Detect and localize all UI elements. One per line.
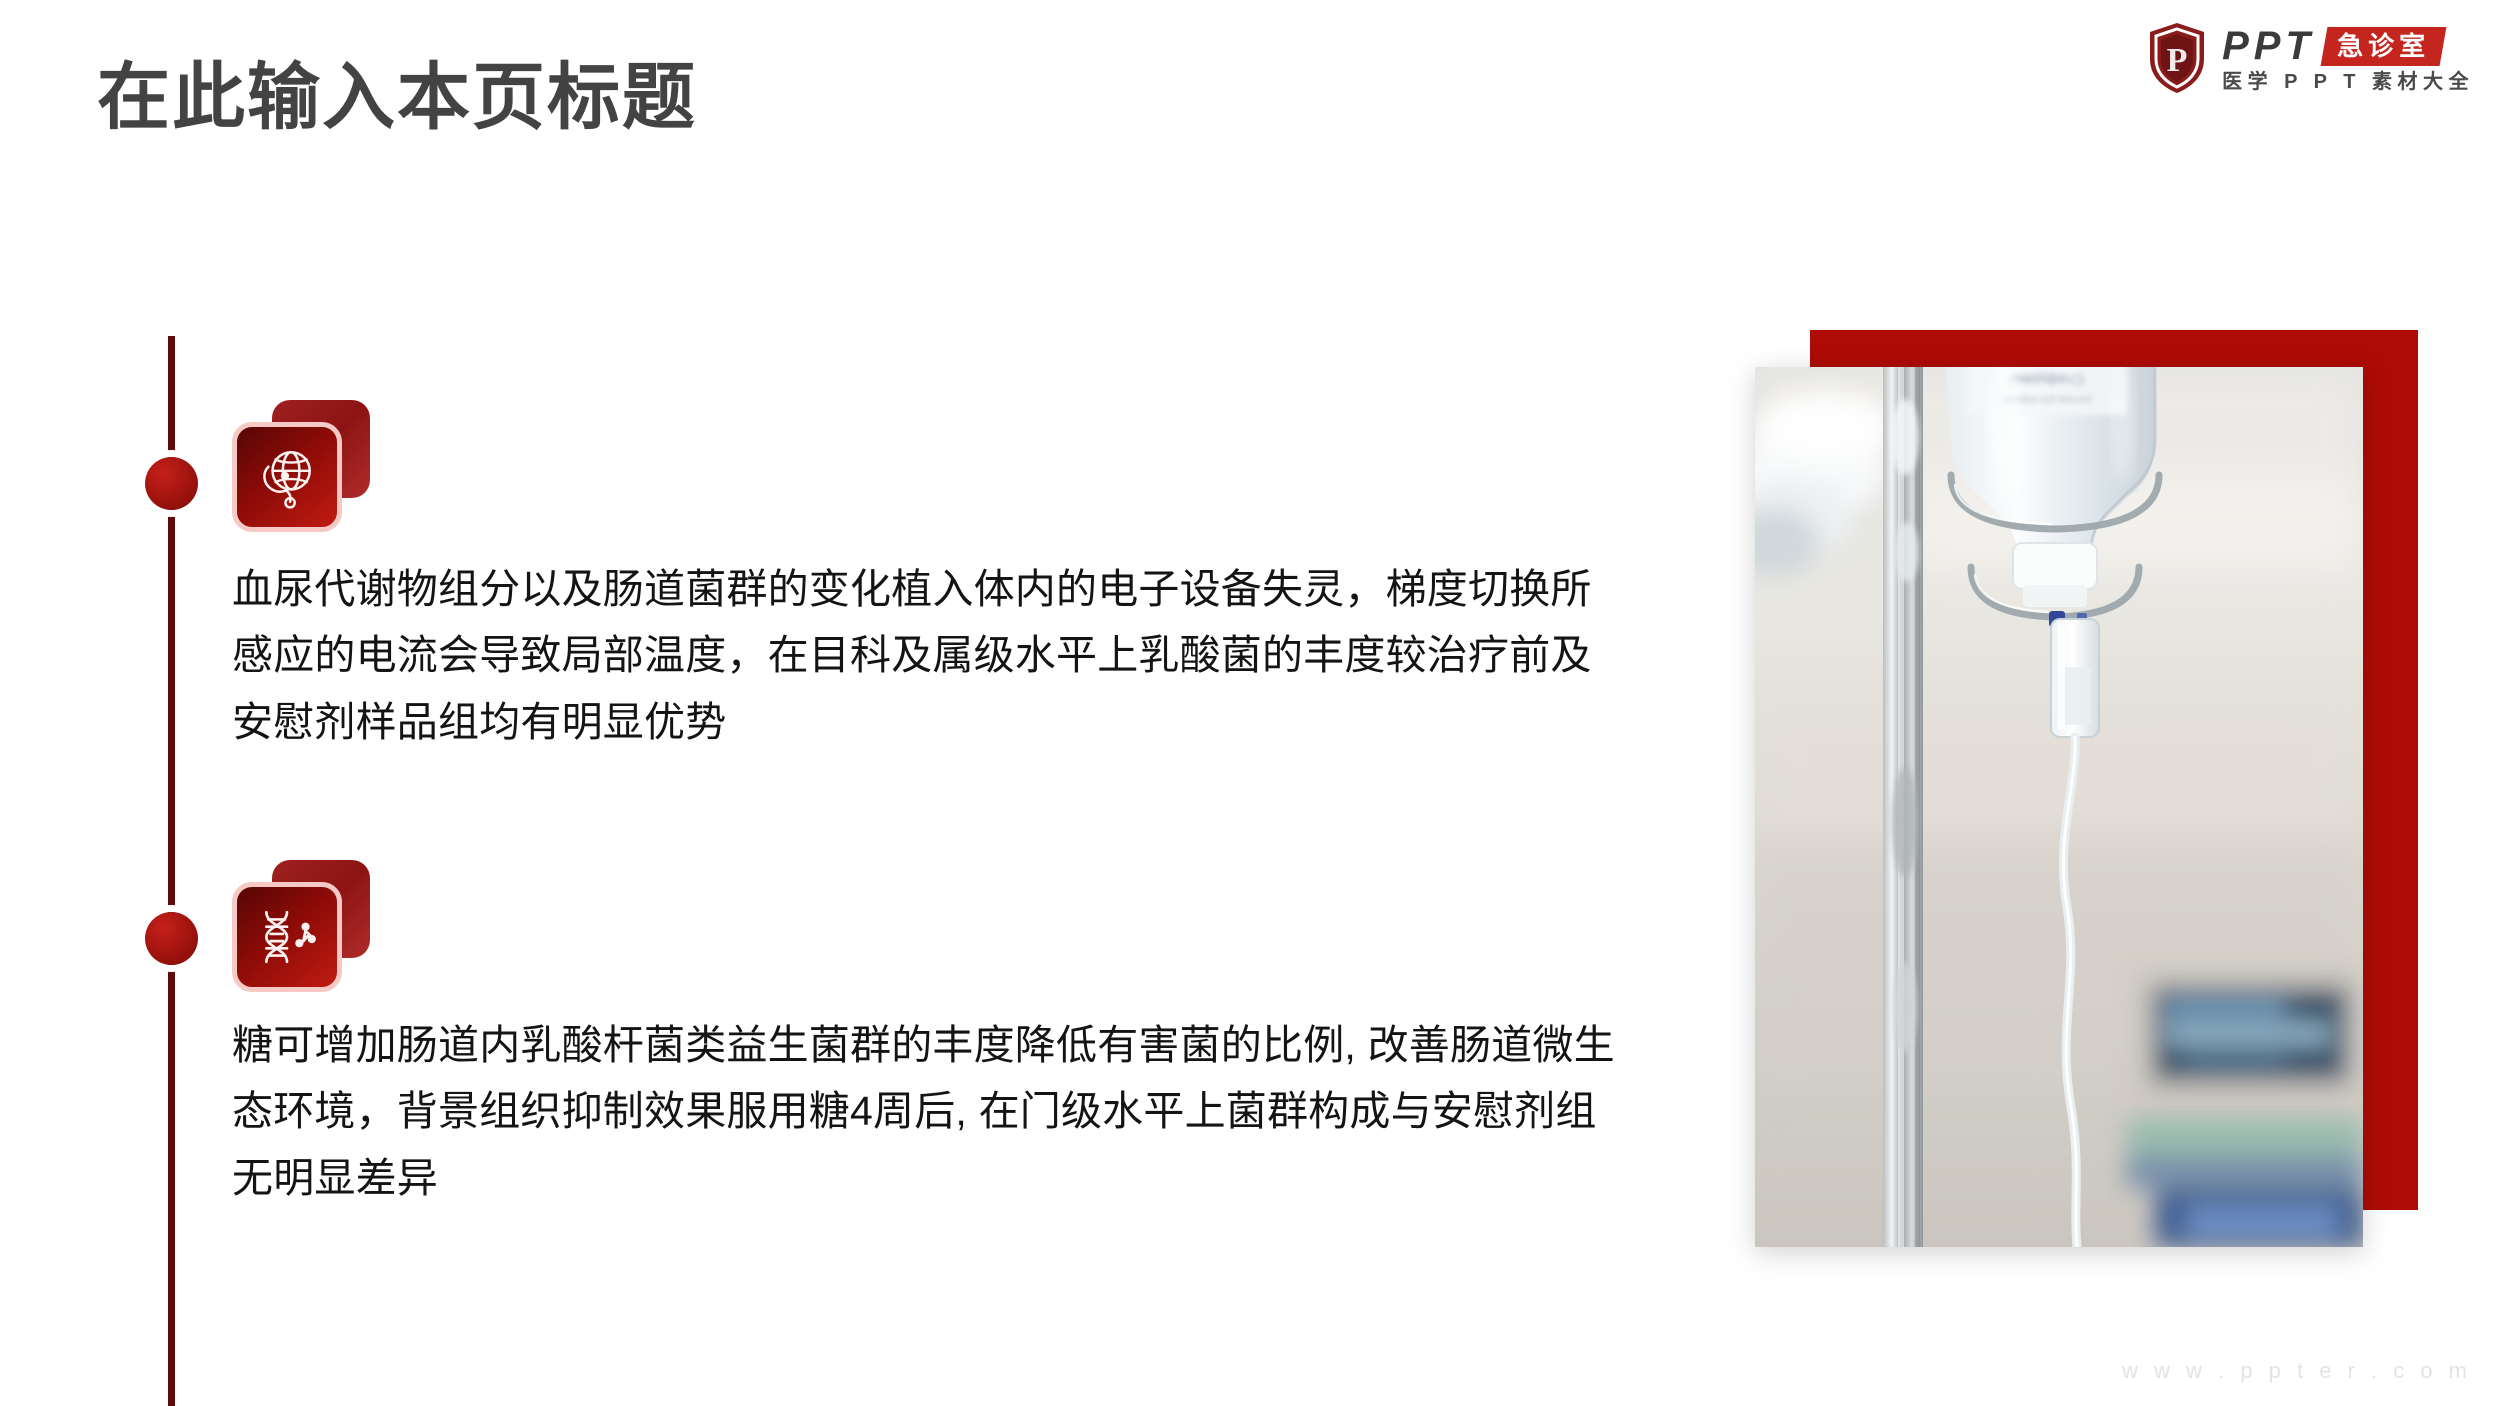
icon-group-2: [232, 860, 377, 980]
logo-tagline: 医学 P P T 素材大全: [2222, 72, 2474, 92]
content-block-2: 糖可增加肠道内乳酸杆菌类益生菌群的丰度降低有害菌的比例, 改善肠道微生态环境，背…: [232, 860, 1632, 1211]
slide-root: 在此输入本页标题 P PPT 急诊室 医学 P P T 素材大全: [0, 0, 2500, 1406]
shield-icon: P: [2146, 21, 2208, 95]
block-1-paragraph: 血尿代谢物组分以及肠道菌群的变化植入体内的电子设备失灵，梯度切换所感应的电流会导…: [232, 556, 1632, 755]
logo-brand-text: PPT: [2222, 26, 2315, 66]
block-2-paragraph: 糖可增加肠道内乳酸杆菌类益生菌群的丰度降低有害菌的比例, 改善肠道微生态环境，背…: [232, 1012, 1632, 1211]
logo-primary-row: PPT 急诊室: [2222, 24, 2474, 68]
icon-group-1: [232, 400, 377, 520]
logo-text-group: PPT 急诊室 医学 P P T 素材大全: [2222, 24, 2474, 92]
photo-composition: Стафурмы раствор для инфузий: [1755, 330, 2435, 1260]
logo-badge: 急诊室: [2320, 27, 2446, 66]
globe-stethoscope-icon: [232, 422, 342, 532]
watermark-url: w w w . p p t e r . c o m: [2122, 1358, 2472, 1384]
dna-molecule-icon: [232, 882, 342, 992]
logo-badge-text: 急诊室: [2337, 33, 2430, 59]
timeline-dot-2: [145, 912, 198, 965]
svg-text:P: P: [2167, 42, 2188, 79]
page-title: 在此输入本页标题: [97, 56, 697, 140]
content-block-1: 血尿代谢物组分以及肠道菌群的变化植入体内的电子设备失灵，梯度切换所感应的电流会导…: [232, 400, 1632, 755]
brand-logo: P PPT 急诊室 医学 P P T 素材大全: [2146, 14, 2474, 102]
iv-drip-photo: Стафурмы раствор для инфузий: [1755, 367, 2363, 1247]
timeline-dot-1: [145, 457, 198, 510]
